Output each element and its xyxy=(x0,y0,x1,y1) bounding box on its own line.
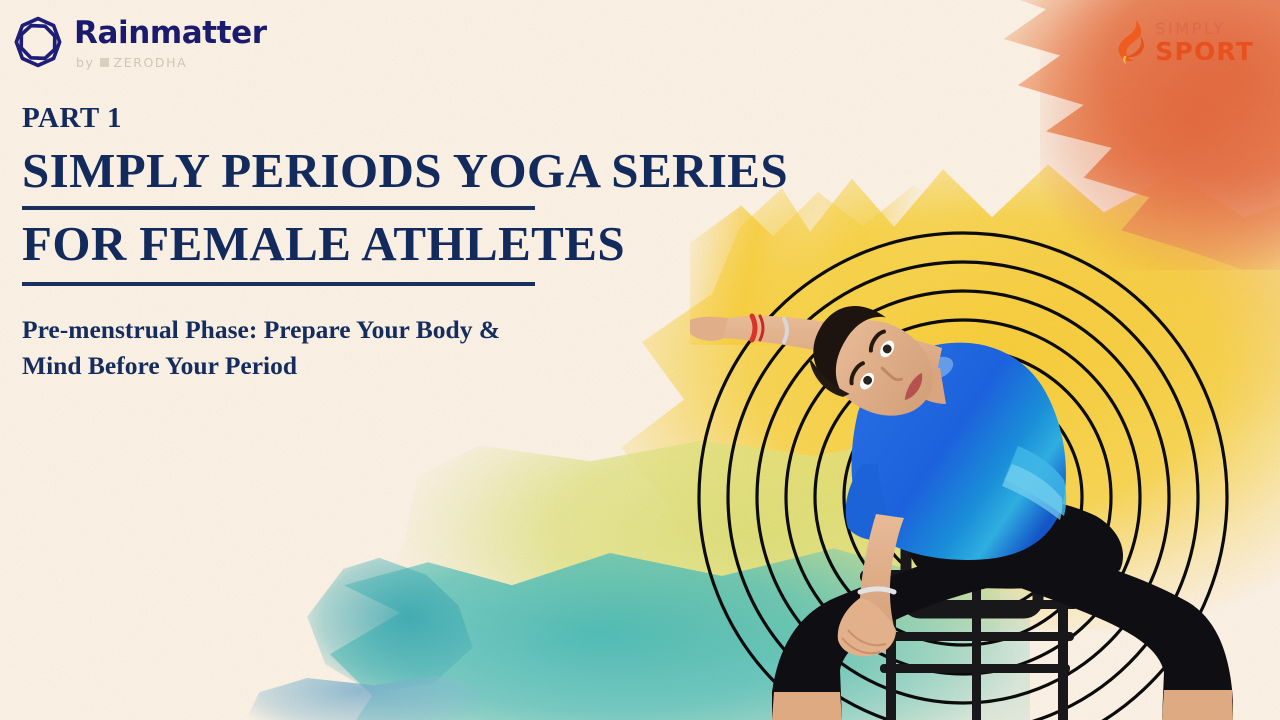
simply-sport-line-1: SIMPLY xyxy=(1155,21,1254,37)
poster-canvas: PART 1 SIMPLY PERIODS YOGA SERIES FOR FE… xyxy=(0,0,1280,720)
simply-sport-logo[interactable]: SIMPLY SPORT xyxy=(1114,18,1254,66)
rainmatter-logo[interactable]: Rainmatter by ZERODHA xyxy=(12,14,267,70)
zerodha-square-icon xyxy=(100,58,109,67)
rainmatter-wordmark: Rainmatter xyxy=(74,18,267,49)
watercolor-teal-accent xyxy=(300,555,480,695)
title-divider-bottom xyxy=(22,282,535,286)
page-title-line-2: FOR FEMALE ATHLETES xyxy=(22,218,782,270)
rainmatter-octagon-icon xyxy=(12,14,64,70)
simply-sport-line-2: SPORT xyxy=(1155,39,1254,64)
zerodha-wordmark: ZERODHA xyxy=(114,55,188,70)
subtitle-line-1: Pre-menstrual Phase: Prepare Your Body & xyxy=(22,312,702,348)
subtitle: Pre-menstrual Phase: Prepare Your Body &… xyxy=(22,312,702,384)
subtitle-line-2: Mind Before Your Period xyxy=(22,348,702,384)
byline-by-label: by xyxy=(76,55,95,70)
title-divider-top xyxy=(22,206,535,210)
eyebrow-part-label: PART 1 xyxy=(22,104,782,133)
page-title-line-1: SIMPLY PERIODS YOGA SERIES xyxy=(22,145,782,197)
simply-sport-flame-icon xyxy=(1114,18,1148,66)
rainmatter-byline: by ZERODHA xyxy=(76,55,267,70)
title-block: PART 1 SIMPLY PERIODS YOGA SERIES FOR FE… xyxy=(22,104,782,384)
watercolor-blue-accent xyxy=(240,672,480,720)
